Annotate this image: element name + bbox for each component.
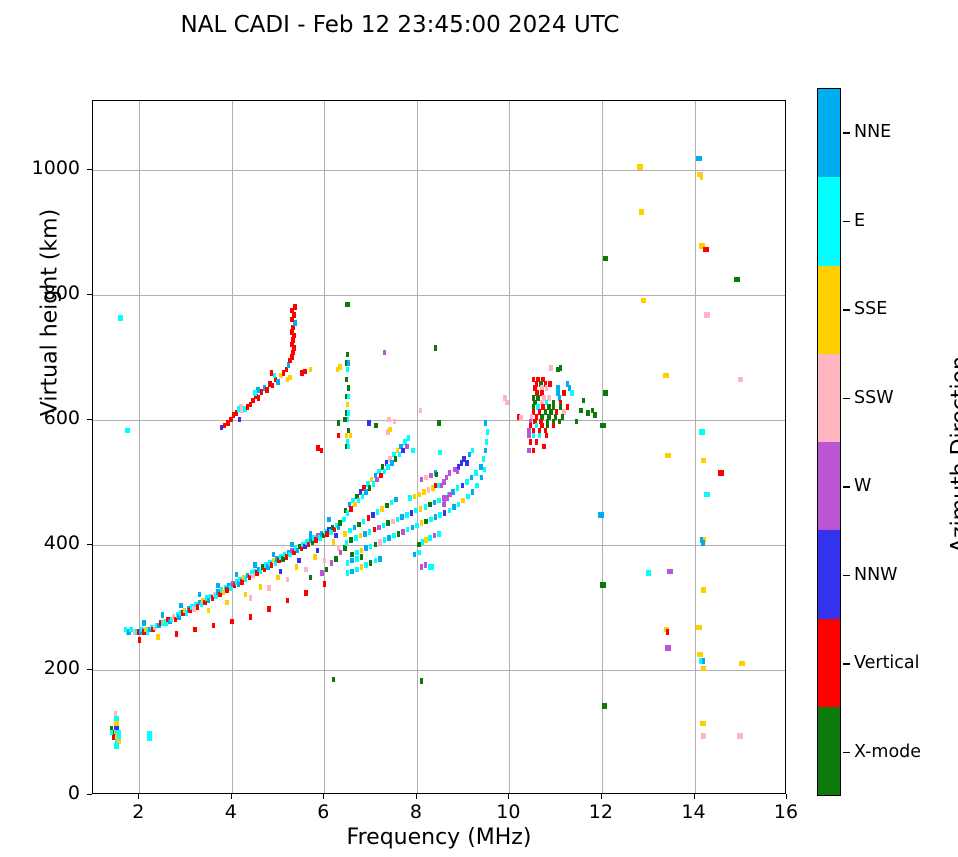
data-marks-layer xyxy=(93,101,785,793)
colorbar-tick xyxy=(843,663,850,664)
data-mark xyxy=(448,492,452,498)
data-mark xyxy=(570,390,574,396)
data-mark xyxy=(367,420,371,426)
data-mark xyxy=(665,453,669,459)
data-mark xyxy=(422,489,426,495)
data-mark xyxy=(443,510,447,516)
data-mark xyxy=(582,398,586,404)
data-mark xyxy=(696,625,700,631)
data-mark xyxy=(347,394,351,400)
data-mark xyxy=(350,569,354,575)
y-tick-label: 200 xyxy=(0,657,80,679)
data-mark xyxy=(417,492,421,498)
y-tick xyxy=(87,294,92,295)
data-mark xyxy=(483,467,487,473)
data-mark xyxy=(480,475,484,481)
ionogram-figure: NAL CADI - Feb 12 23:45:00 2024 UTC 2468… xyxy=(0,0,958,857)
data-mark xyxy=(465,479,469,485)
data-mark xyxy=(420,520,424,526)
y-tick-label: 400 xyxy=(0,532,80,554)
data-mark xyxy=(456,469,460,475)
data-mark xyxy=(198,592,202,598)
data-mark xyxy=(396,517,400,523)
data-mark xyxy=(424,562,428,568)
data-mark xyxy=(380,506,384,512)
colorbar-tick xyxy=(843,132,850,133)
data-mark xyxy=(355,550,359,556)
data-mark xyxy=(360,548,364,554)
data-mark xyxy=(369,560,373,566)
data-mark xyxy=(345,377,349,383)
x-tick xyxy=(231,794,232,799)
data-mark xyxy=(419,506,423,512)
data-mark xyxy=(276,575,280,581)
x-tick-label: 14 xyxy=(664,801,724,823)
colorbar-label-ssw: SSW xyxy=(854,388,894,408)
data-mark xyxy=(428,502,432,508)
colorbar-label-w: W xyxy=(854,476,871,496)
data-mark xyxy=(267,585,271,591)
data-mark xyxy=(377,525,381,531)
data-mark xyxy=(739,661,743,667)
data-mark xyxy=(405,512,409,518)
data-mark xyxy=(179,603,183,609)
data-mark xyxy=(388,427,392,433)
data-mark xyxy=(149,736,153,742)
colorbar-segment-nne xyxy=(818,89,840,177)
colorbar-segment-e xyxy=(818,177,840,265)
data-mark xyxy=(397,531,401,537)
data-mark xyxy=(482,456,486,462)
data-mark xyxy=(408,495,412,501)
data-mark xyxy=(433,533,437,539)
data-mark xyxy=(290,542,294,548)
data-mark xyxy=(701,733,705,739)
data-mark xyxy=(433,500,437,506)
data-mark xyxy=(438,512,442,518)
data-mark xyxy=(286,577,290,583)
data-mark xyxy=(465,460,469,466)
data-mark xyxy=(646,570,650,576)
data-mark xyxy=(666,629,670,635)
colorbar-tick xyxy=(843,398,850,399)
data-mark xyxy=(393,419,397,425)
data-mark xyxy=(586,410,590,416)
data-mark xyxy=(343,531,347,537)
data-mark xyxy=(419,408,423,414)
data-mark xyxy=(448,470,452,476)
data-mark xyxy=(235,572,239,578)
data-mark xyxy=(437,498,441,504)
data-mark xyxy=(486,429,490,435)
data-mark xyxy=(253,562,257,568)
data-mark xyxy=(334,533,338,539)
data-mark xyxy=(346,352,350,358)
data-mark xyxy=(401,529,405,535)
y-tick xyxy=(87,169,92,170)
data-mark xyxy=(313,554,317,560)
data-mark xyxy=(156,634,160,640)
data-mark xyxy=(346,402,350,408)
data-mark xyxy=(438,450,442,456)
data-mark xyxy=(542,444,546,450)
data-mark xyxy=(374,542,378,548)
data-mark xyxy=(316,548,320,554)
x-tick-label: 4 xyxy=(201,801,261,823)
data-mark xyxy=(320,570,324,576)
data-mark xyxy=(337,433,341,439)
colorbar-tick xyxy=(843,221,850,222)
x-tick xyxy=(508,794,509,799)
data-mark xyxy=(434,345,438,351)
data-mark xyxy=(364,545,368,551)
data-mark xyxy=(349,537,353,543)
data-mark xyxy=(405,444,409,450)
data-mark xyxy=(548,381,552,387)
data-mark xyxy=(367,515,371,521)
data-mark xyxy=(461,483,465,489)
data-mark xyxy=(374,423,378,429)
data-mark xyxy=(142,620,146,626)
data-mark xyxy=(286,598,290,604)
data-mark xyxy=(413,552,417,558)
data-mark xyxy=(249,614,253,620)
data-mark xyxy=(382,523,386,529)
data-mark xyxy=(343,545,347,551)
data-mark xyxy=(216,583,220,589)
data-mark xyxy=(545,385,549,391)
data-mark xyxy=(424,519,428,525)
data-mark xyxy=(532,433,536,439)
data-mark xyxy=(431,564,435,570)
data-mark xyxy=(378,539,382,545)
data-mark xyxy=(566,404,570,410)
data-mark xyxy=(575,419,579,425)
data-mark xyxy=(295,564,299,570)
data-mark xyxy=(348,528,352,534)
data-mark xyxy=(237,406,241,412)
data-mark xyxy=(265,387,269,393)
x-tick-label: 8 xyxy=(386,801,446,823)
data-mark xyxy=(457,502,461,508)
data-mark xyxy=(374,558,378,564)
data-mark xyxy=(230,619,234,625)
data-mark xyxy=(354,535,358,541)
data-mark xyxy=(115,743,119,749)
data-mark xyxy=(411,525,415,531)
data-mark xyxy=(593,412,597,418)
data-mark xyxy=(323,581,327,587)
data-mark xyxy=(126,428,130,434)
data-mark xyxy=(345,302,349,308)
data-mark xyxy=(390,500,394,506)
data-mark xyxy=(225,600,229,606)
data-mark xyxy=(362,519,366,525)
data-mark xyxy=(696,156,700,162)
y-tick xyxy=(87,419,92,420)
data-mark xyxy=(639,209,643,215)
data-mark xyxy=(410,510,414,516)
data-mark xyxy=(271,383,275,389)
data-mark xyxy=(466,494,470,500)
data-mark xyxy=(484,420,488,426)
data-mark xyxy=(700,175,704,181)
page-title: NAL CADI - Feb 12 23:45:00 2024 UTC xyxy=(0,12,800,38)
data-mark xyxy=(424,504,428,510)
data-mark xyxy=(461,498,465,504)
data-mark xyxy=(345,540,349,546)
data-mark xyxy=(371,512,375,518)
data-mark xyxy=(346,570,350,576)
data-mark xyxy=(385,503,389,509)
data-mark xyxy=(347,385,351,391)
x-tick xyxy=(416,794,417,799)
y-tick xyxy=(87,544,92,545)
data-mark xyxy=(394,497,398,503)
colorbar-label-nne: NNE xyxy=(854,122,891,142)
colorbar-tick xyxy=(843,486,850,487)
data-mark xyxy=(175,631,179,637)
data-mark xyxy=(561,414,565,420)
data-mark xyxy=(641,298,645,304)
data-mark xyxy=(700,721,704,727)
data-mark xyxy=(535,439,539,445)
x-tick xyxy=(694,794,695,799)
colorbar-label-vertical: Vertical xyxy=(854,653,920,673)
data-mark xyxy=(347,410,351,416)
data-mark xyxy=(279,569,283,575)
data-mark xyxy=(316,445,320,451)
data-mark xyxy=(270,370,274,376)
x-tick xyxy=(323,794,324,799)
data-mark xyxy=(538,433,542,439)
data-mark xyxy=(424,537,428,543)
data-mark xyxy=(360,564,364,570)
data-mark xyxy=(413,494,417,500)
data-mark xyxy=(549,365,553,371)
data-mark xyxy=(330,560,334,566)
x-tick xyxy=(138,794,139,799)
data-mark xyxy=(272,552,276,558)
data-mark xyxy=(602,703,606,709)
data-mark xyxy=(343,417,347,423)
data-mark xyxy=(475,483,479,489)
x-tick-label: 12 xyxy=(571,801,631,823)
data-mark xyxy=(435,472,439,478)
data-mark xyxy=(267,606,271,612)
data-mark xyxy=(697,652,701,658)
data-mark xyxy=(437,420,441,426)
colorbar-segment-w xyxy=(818,442,840,530)
data-mark xyxy=(387,535,391,541)
data-mark xyxy=(249,595,253,601)
y-tick xyxy=(87,669,92,670)
data-mark xyxy=(342,517,346,523)
data-mark xyxy=(346,367,350,373)
data-mark xyxy=(667,569,671,575)
colorbar-segment-sse xyxy=(818,266,840,354)
data-mark xyxy=(415,523,419,529)
data-mark xyxy=(138,637,142,643)
data-mark xyxy=(309,575,313,581)
data-mark xyxy=(212,623,216,629)
data-mark xyxy=(552,423,556,429)
data-mark xyxy=(253,390,257,396)
data-mark xyxy=(373,527,377,533)
data-mark xyxy=(701,666,705,672)
data-mark xyxy=(400,514,404,520)
data-mark xyxy=(355,567,359,573)
data-mark xyxy=(339,550,343,556)
data-mark xyxy=(529,439,533,445)
x-tick xyxy=(601,794,602,799)
data-mark xyxy=(471,448,475,454)
data-mark xyxy=(701,540,705,546)
data-mark xyxy=(411,448,415,454)
y-tick xyxy=(87,794,92,795)
colorbar-tick xyxy=(843,752,850,753)
data-mark xyxy=(556,367,560,373)
data-mark xyxy=(703,247,707,253)
data-mark xyxy=(600,582,604,588)
x-tick xyxy=(786,794,787,799)
data-mark xyxy=(118,315,122,321)
data-mark xyxy=(117,730,121,736)
data-mark xyxy=(355,556,359,562)
colorbar-label-e: E xyxy=(854,211,865,231)
data-mark xyxy=(357,522,361,528)
data-mark xyxy=(699,658,703,664)
data-mark xyxy=(562,390,566,396)
data-mark xyxy=(338,364,342,370)
data-mark xyxy=(293,304,297,310)
data-mark xyxy=(429,517,433,523)
data-mark xyxy=(579,408,583,414)
data-mark xyxy=(603,256,607,262)
data-mark xyxy=(527,433,531,439)
data-mark xyxy=(485,439,489,445)
colorbar-tick xyxy=(843,575,850,576)
data-mark xyxy=(193,627,197,633)
data-mark xyxy=(386,520,390,526)
plot-area xyxy=(92,100,786,794)
data-mark xyxy=(718,470,722,476)
data-mark xyxy=(600,512,604,518)
data-mark xyxy=(737,733,741,739)
data-mark xyxy=(456,485,460,491)
x-tick-label: 2 xyxy=(108,801,168,823)
x-tick-label: 6 xyxy=(293,801,353,823)
data-mark xyxy=(332,539,336,545)
data-mark xyxy=(346,560,350,566)
data-mark xyxy=(334,556,338,562)
y-axis-label: Virtual height (km) xyxy=(38,209,63,416)
data-mark xyxy=(383,350,387,356)
data-mark xyxy=(527,448,531,454)
data-mark xyxy=(424,475,428,481)
data-mark xyxy=(378,556,382,562)
data-mark xyxy=(417,550,421,556)
data-mark xyxy=(368,529,372,535)
data-mark xyxy=(387,417,391,423)
data-mark xyxy=(363,531,367,537)
data-mark xyxy=(350,558,354,564)
data-mark xyxy=(323,558,327,564)
data-mark xyxy=(332,677,336,683)
colorbar xyxy=(817,88,841,796)
data-mark xyxy=(364,562,368,568)
data-mark xyxy=(603,390,607,396)
x-tick-label: 16 xyxy=(756,801,816,823)
colorbar-label-nnw: NNW xyxy=(854,565,898,585)
data-mark xyxy=(325,567,329,573)
data-mark xyxy=(309,367,313,373)
data-mark xyxy=(110,730,114,736)
data-mark xyxy=(417,542,421,548)
data-mark xyxy=(414,508,418,514)
data-mark xyxy=(304,590,308,596)
data-mark xyxy=(471,489,475,495)
data-mark xyxy=(637,164,641,170)
colorbar-segment-x-mode xyxy=(818,707,840,795)
colorbar-title-wrap: Azimuth Direction xyxy=(948,285,958,625)
data-mark xyxy=(376,509,380,515)
colorbar-label-sse: SSE xyxy=(854,299,887,319)
data-mark xyxy=(259,584,263,590)
data-mark xyxy=(161,612,165,618)
data-mark xyxy=(369,544,373,550)
data-mark xyxy=(276,379,280,385)
y-tick-label: 0 xyxy=(0,782,80,804)
data-mark xyxy=(519,415,523,421)
data-mark xyxy=(347,360,351,366)
data-mark xyxy=(704,492,708,498)
data-mark xyxy=(704,312,708,318)
data-mark xyxy=(474,470,478,476)
data-mark xyxy=(327,517,331,523)
data-mark xyxy=(207,608,211,614)
data-mark xyxy=(220,425,224,431)
data-mark xyxy=(532,448,536,454)
data-mark xyxy=(738,377,742,383)
colorbar-segment-ssw xyxy=(818,354,840,442)
data-mark xyxy=(391,519,395,525)
data-mark xyxy=(434,514,438,520)
data-mark xyxy=(383,537,387,543)
data-mark xyxy=(503,395,507,401)
data-mark xyxy=(303,369,307,375)
data-mark xyxy=(337,420,341,426)
data-mark xyxy=(420,477,424,483)
data-mark xyxy=(699,429,703,435)
data-mark xyxy=(304,567,308,573)
data-mark xyxy=(701,587,705,593)
data-mark xyxy=(429,473,433,479)
data-mark xyxy=(288,375,292,381)
data-mark xyxy=(347,444,351,450)
data-mark xyxy=(320,448,324,454)
data-mark xyxy=(349,433,353,439)
data-mark xyxy=(360,554,364,560)
data-mark xyxy=(699,243,703,249)
colorbar-tick xyxy=(843,309,850,310)
data-mark xyxy=(244,592,248,598)
data-mark xyxy=(427,487,431,493)
data-mark xyxy=(665,645,669,651)
data-mark xyxy=(545,433,549,439)
colorbar-segment-nnw xyxy=(818,530,840,618)
x-axis-label: Frequency (MHz) xyxy=(92,825,786,850)
